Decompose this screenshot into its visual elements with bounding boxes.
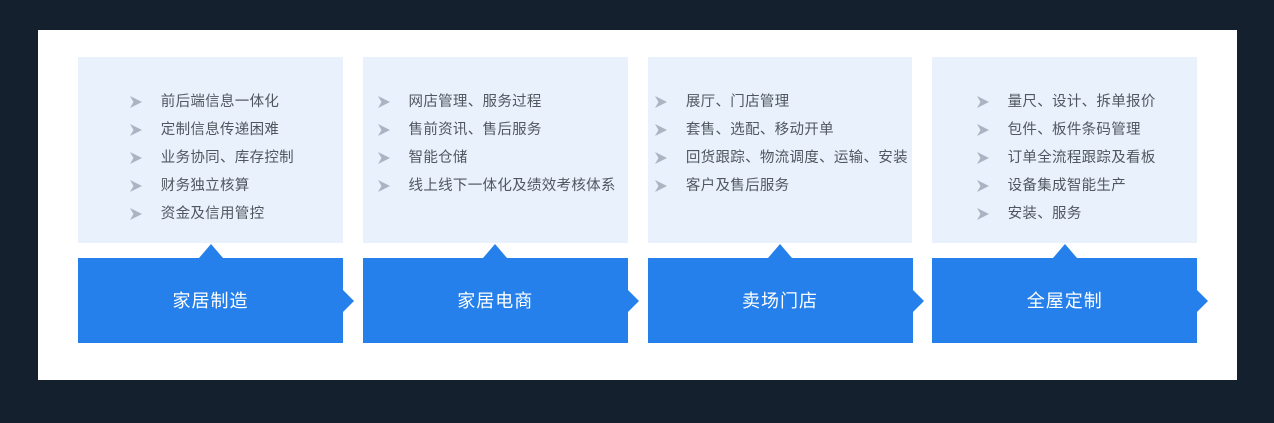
arrow-right-bullet-icon xyxy=(127,151,147,165)
feature-label: 安装、服务 xyxy=(1008,207,1082,222)
feature-list-1: 前后端信息一体化 定制信息传递困难 业务协同、库存控制 财务独立核算 xyxy=(127,88,294,228)
arrow-right-bullet-icon xyxy=(375,123,395,137)
feature-label: 前后端信息一体化 xyxy=(161,95,279,110)
feature-label: 量尺、设计、拆单报价 xyxy=(1008,95,1156,110)
feature-label: 资金及信用管控 xyxy=(161,207,265,222)
feature-panel-3: 展厅、门店管理 套售、选配、移动开单 回货跟踪、物流调度、运输、安装 xyxy=(648,57,913,243)
banner-notch-icon xyxy=(483,244,507,258)
list-item: 包件、板件条码管理 xyxy=(974,116,1156,144)
feature-label: 售前资讯、售后服务 xyxy=(409,123,542,138)
arrow-right-bullet-icon xyxy=(652,123,672,137)
banner-notch-icon xyxy=(1053,244,1077,258)
feature-list-3: 展厅、门店管理 套售、选配、移动开单 回货跟踪、物流调度、运输、安装 xyxy=(652,88,908,200)
arrow-right-bullet-icon xyxy=(375,151,395,165)
feature-list-4: 量尺、设计、拆单报价 包件、板件条码管理 订单全流程跟踪及看板 设备集 xyxy=(974,88,1156,228)
arrow-right-bullet-icon xyxy=(127,95,147,109)
list-item: 定制信息传递困难 xyxy=(127,116,294,144)
list-item: 线上线下一体化及绩效考核体系 xyxy=(375,172,616,200)
process-column-4: 量尺、设计、拆单报价 包件、板件条码管理 订单全流程跟踪及看板 设备集 xyxy=(932,57,1197,373)
arrow-right-bullet-icon xyxy=(974,179,994,193)
banner-notch-icon xyxy=(199,244,223,258)
arrow-right-bullet-icon xyxy=(652,151,672,165)
list-item: 客户及售后服务 xyxy=(652,172,908,200)
list-item: 售前资讯、售后服务 xyxy=(375,116,616,144)
stage-banner-wrap-1: 家居制造 xyxy=(78,258,343,343)
feature-label: 智能仓储 xyxy=(409,151,468,166)
arrow-right-bullet-icon xyxy=(127,207,147,221)
arrow-right-bullet-icon xyxy=(375,179,395,193)
feature-label: 套售、选配、移动开单 xyxy=(686,123,834,138)
stage-banner-2[interactable]: 家居电商 xyxy=(363,258,628,343)
arrow-right-bullet-icon xyxy=(652,179,672,193)
feature-label: 线上线下一体化及绩效考核体系 xyxy=(409,179,616,194)
stage-banner-1[interactable]: 家居制造 xyxy=(78,258,343,343)
list-item: 套售、选配、移动开单 xyxy=(652,116,908,144)
arrow-right-bullet-icon xyxy=(974,123,994,137)
stage-banner-wrap-4: 全屋定制 xyxy=(932,258,1197,343)
flow-chevron-icon xyxy=(1197,290,1208,312)
process-column-2: 网店管理、服务过程 售前资讯、售后服务 智能仓储 线上线下一体化及绩效 xyxy=(363,57,628,373)
list-item: 前后端信息一体化 xyxy=(127,88,294,116)
feature-label: 订单全流程跟踪及看板 xyxy=(1008,151,1156,166)
arrow-right-bullet-icon xyxy=(974,95,994,109)
list-item: 财务独立核算 xyxy=(127,172,294,200)
arrow-right-bullet-icon xyxy=(375,95,395,109)
banner-notch-icon xyxy=(768,244,792,258)
process-columns: 前后端信息一体化 定制信息传递困难 业务协同、库存控制 财务独立核算 xyxy=(78,57,1197,373)
feature-label: 网店管理、服务过程 xyxy=(409,95,542,110)
stage-banner-label: 全屋定制 xyxy=(1027,292,1103,310)
feature-label: 包件、板件条码管理 xyxy=(1008,123,1141,138)
feature-panel-1: 前后端信息一体化 定制信息传递困难 业务协同、库存控制 财务独立核算 xyxy=(78,57,343,243)
arrow-right-bullet-icon xyxy=(652,95,672,109)
diagram-stage: 前后端信息一体化 定制信息传递困难 业务协同、库存控制 财务独立核算 xyxy=(0,0,1274,423)
stage-banner-wrap-3: 卖场门店 xyxy=(648,258,913,343)
feature-label: 客户及售后服务 xyxy=(686,179,790,194)
arrow-right-bullet-icon xyxy=(127,123,147,137)
feature-label: 定制信息传递困难 xyxy=(161,123,279,138)
arrow-right-bullet-icon xyxy=(974,151,994,165)
flow-chevron-icon xyxy=(628,290,639,312)
list-item: 回货跟踪、物流调度、运输、安装 xyxy=(652,144,908,172)
stage-banner-3[interactable]: 卖场门店 xyxy=(648,258,913,343)
feature-list-2: 网店管理、服务过程 售前资讯、售后服务 智能仓储 线上线下一体化及绩效 xyxy=(375,88,616,200)
feature-panel-4: 量尺、设计、拆单报价 包件、板件条码管理 订单全流程跟踪及看板 设备集 xyxy=(932,57,1197,243)
list-item: 订单全流程跟踪及看板 xyxy=(974,144,1156,172)
stage-banner-label: 家居制造 xyxy=(173,292,249,310)
feature-label: 业务协同、库存控制 xyxy=(161,151,294,166)
feature-label: 回货跟踪、物流调度、运输、安装 xyxy=(686,151,908,166)
process-column-1: 前后端信息一体化 定制信息传递困难 业务协同、库存控制 财务独立核算 xyxy=(78,57,343,373)
feature-label: 财务独立核算 xyxy=(161,179,250,194)
list-item: 智能仓储 xyxy=(375,144,616,172)
flow-chevron-icon xyxy=(913,290,924,312)
feature-label: 展厅、门店管理 xyxy=(686,95,790,110)
stage-banner-label: 家居电商 xyxy=(457,292,533,310)
arrow-right-bullet-icon xyxy=(127,179,147,193)
list-item: 网店管理、服务过程 xyxy=(375,88,616,116)
diagram-card: 前后端信息一体化 定制信息传递困难 业务协同、库存控制 财务独立核算 xyxy=(38,30,1237,380)
list-item: 资金及信用管控 xyxy=(127,200,294,228)
stage-banner-label: 卖场门店 xyxy=(742,292,818,310)
list-item: 量尺、设计、拆单报价 xyxy=(974,88,1156,116)
arrow-right-bullet-icon xyxy=(974,207,994,221)
feature-panel-2: 网店管理、服务过程 售前资讯、售后服务 智能仓储 线上线下一体化及绩效 xyxy=(363,57,628,243)
feature-label: 设备集成智能生产 xyxy=(1008,179,1126,194)
stage-banner-4[interactable]: 全屋定制 xyxy=(932,258,1197,343)
list-item: 展厅、门店管理 xyxy=(652,88,908,116)
stage-banner-wrap-2: 家居电商 xyxy=(363,258,628,343)
list-item: 安装、服务 xyxy=(974,200,1156,228)
flow-chevron-icon xyxy=(343,290,354,312)
list-item: 业务协同、库存控制 xyxy=(127,144,294,172)
list-item: 设备集成智能生产 xyxy=(974,172,1156,200)
process-column-3: 展厅、门店管理 套售、选配、移动开单 回货跟踪、物流调度、运输、安装 xyxy=(648,57,913,373)
